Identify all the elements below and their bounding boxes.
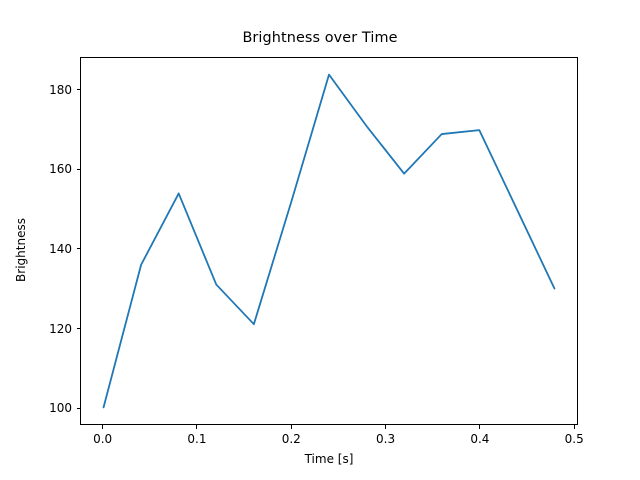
plot-area xyxy=(80,57,578,425)
x-tick-mark xyxy=(102,425,103,429)
chart-title: Brightness over Time xyxy=(0,30,640,46)
y-tick-label: 140 xyxy=(49,241,72,257)
brightness-line-series xyxy=(104,75,555,408)
x-tick-mark xyxy=(385,425,386,429)
y-tick-label: 100 xyxy=(49,400,72,416)
x-tick-label: 0.0 xyxy=(93,431,112,447)
x-tick-label: 0.1 xyxy=(187,431,206,447)
data-line-svg xyxy=(81,58,577,424)
x-tick-mark xyxy=(196,425,197,429)
x-tick-label: 0.2 xyxy=(282,431,301,447)
x-tick-mark xyxy=(479,425,480,429)
y-tick-label: 160 xyxy=(49,161,72,177)
y-tick-label: 120 xyxy=(49,321,72,337)
y-axis-label: Brightness xyxy=(12,66,30,434)
x-tick-mark xyxy=(574,425,575,429)
x-tick-mark xyxy=(291,425,292,429)
x-tick-label: 0.5 xyxy=(565,431,584,447)
matplotlib-figure: Brightness over Time 100120140160180 0.0… xyxy=(0,0,640,480)
x-axis-label: Time [s] xyxy=(80,452,578,466)
x-tick-label: 0.4 xyxy=(470,431,489,447)
x-tick-label: 0.3 xyxy=(376,431,395,447)
y-tick-label: 180 xyxy=(49,82,72,98)
